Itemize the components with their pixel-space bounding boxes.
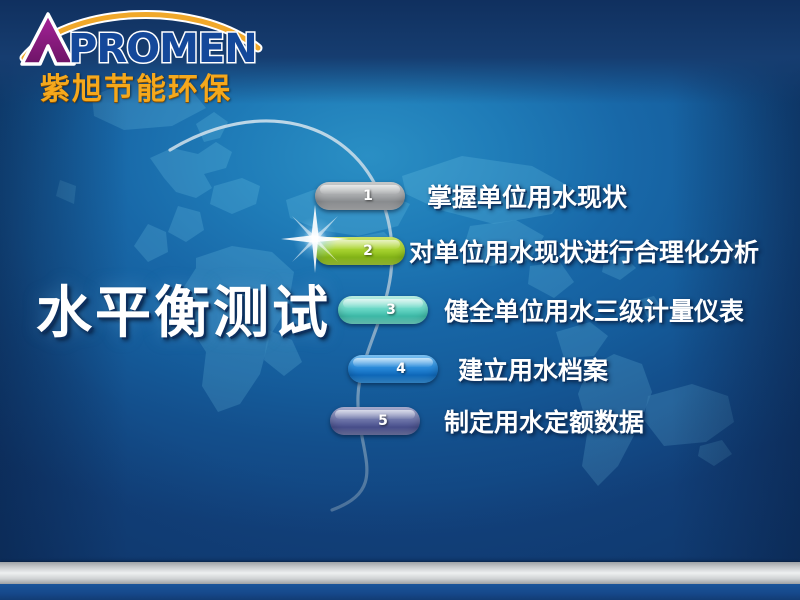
footer-band [0, 584, 800, 600]
step-label: 健全单位用水三级计量仪表 [444, 292, 744, 328]
step-pill-1[interactable]: 1 [315, 182, 405, 210]
step-pill-4[interactable]: 4 [348, 355, 438, 383]
step-pill-2[interactable]: 2 [315, 237, 405, 265]
step-label: 掌握单位用水现状 [427, 178, 627, 214]
list-item[interactable]: 3 健全单位用水三级计量仪表 [338, 292, 744, 328]
step-label: 对单位用水现状进行合理化分析 [409, 233, 759, 269]
list-item[interactable]: 4 建立用水档案 [348, 351, 608, 387]
step-pill-3[interactable]: 3 [338, 296, 428, 324]
step-number: 4 [396, 361, 406, 377]
page-title: 水平衡测试 [36, 268, 331, 349]
list-item[interactable]: 2 对单位用水现状进行合理化分析 [315, 233, 759, 269]
list-item[interactable]: 1 掌握单位用水现状 [315, 178, 627, 214]
silver-divider-band [0, 562, 800, 584]
step-number: 3 [386, 302, 396, 318]
apromen-logo: PROMEN 紫旭节能环保 [8, 2, 270, 102]
step-label: 建立用水档案 [458, 351, 608, 387]
step-label: 制定用水定额数据 [444, 403, 644, 439]
list-item[interactable]: 5 制定用水定额数据 [330, 403, 644, 439]
presentation-slide: PROMEN 紫旭节能环保 水平衡测试 1 掌握单位用水现状 [0, 0, 800, 600]
step-number: 1 [363, 188, 373, 204]
step-number: 5 [378, 413, 388, 429]
step-number: 2 [363, 243, 373, 259]
logo-subtitle: 紫旭节能环保 [40, 64, 232, 108]
step-pill-5[interactable]: 5 [330, 407, 420, 435]
